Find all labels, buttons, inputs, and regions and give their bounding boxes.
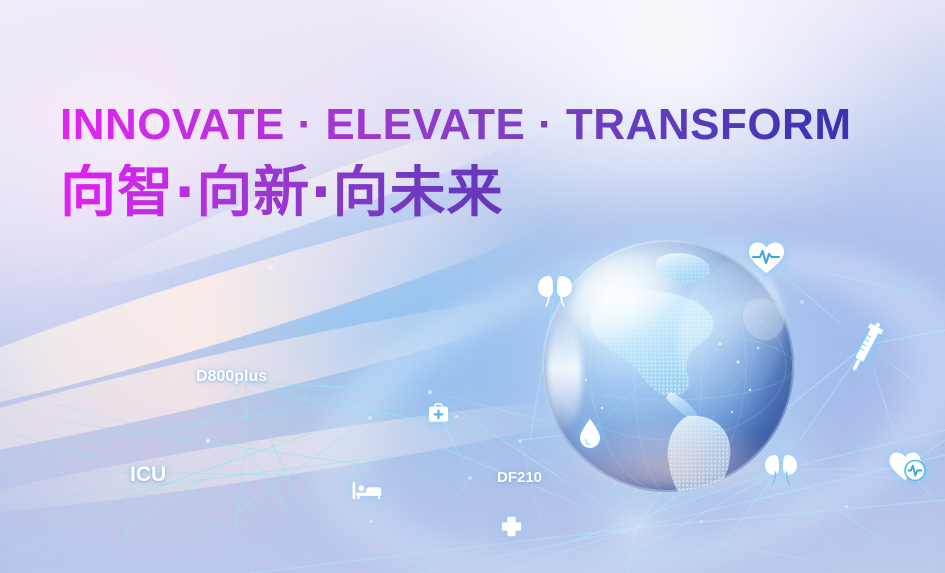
globe-rim [542, 240, 794, 492]
kidneys-icon [760, 452, 802, 486]
headline-chinese: 向智·向新·向未来 [60, 164, 504, 221]
heart-ecg-icon [888, 450, 926, 482]
hospital-bed-icon [352, 481, 382, 500]
headline-english: INNOVATE · ELEVATE · TRANSFORM [60, 103, 852, 147]
node-label-df210: DF210 [497, 469, 542, 486]
water-drop-icon [578, 418, 602, 449]
heart-pulse-icon [748, 241, 785, 275]
medical-bag-icon [428, 403, 449, 423]
medical-cross-icon [501, 516, 522, 537]
earth-globe [542, 240, 794, 492]
hero-banner: INNOVATE · ELEVATE · TRANSFORM 向智·向新·向未来… [0, 0, 945, 573]
node-label-d800plus: D800plus [196, 368, 267, 386]
node-label-icu: ICU [130, 463, 166, 487]
kidneys-icon [533, 272, 577, 308]
